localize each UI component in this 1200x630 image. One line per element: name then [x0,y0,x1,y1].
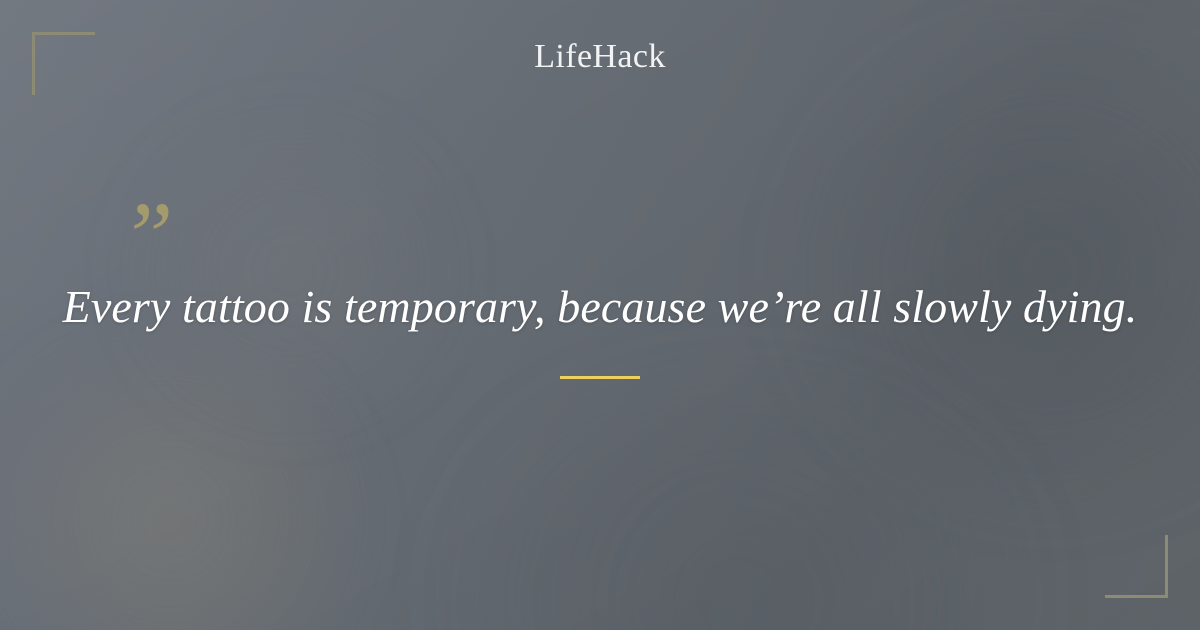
divider-rule [560,376,640,379]
brand-logo: LifeHack [0,40,1200,74]
quote-card: LifeHack ” Every tattoo is temporary, be… [0,0,1200,630]
quotation-mark-icon: ” [120,188,173,284]
quote-text: Every tattoo is temporary, because we’re… [60,278,1140,337]
